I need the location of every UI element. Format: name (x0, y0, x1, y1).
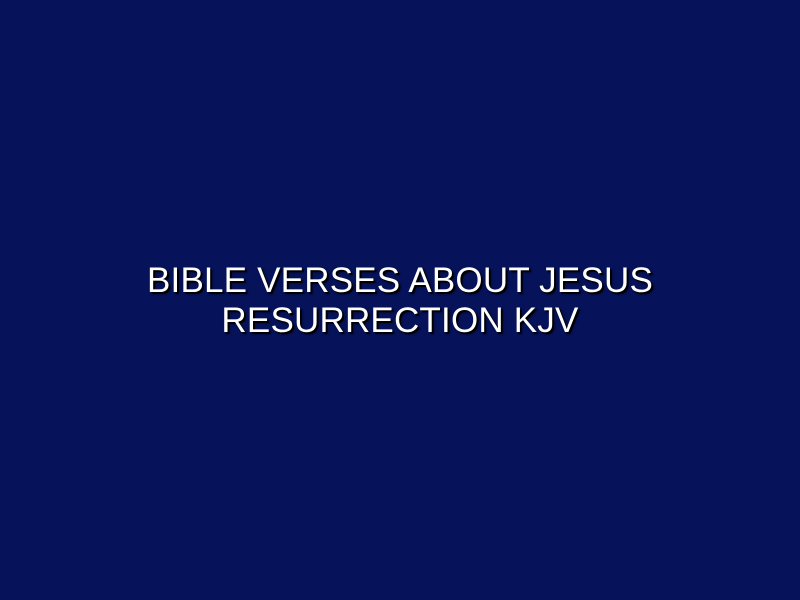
title-card-canvas: BIBLE VERSES ABOUT JESUS RESURRECTION KJ… (0, 0, 800, 600)
page-title-line-1: BIBLE VERSES ABOUT JESUS (100, 261, 700, 301)
page-title-line-2: RESURRECTION KJV (100, 301, 700, 341)
page-title: BIBLE VERSES ABOUT JESUS RESURRECTION KJ… (100, 261, 700, 341)
